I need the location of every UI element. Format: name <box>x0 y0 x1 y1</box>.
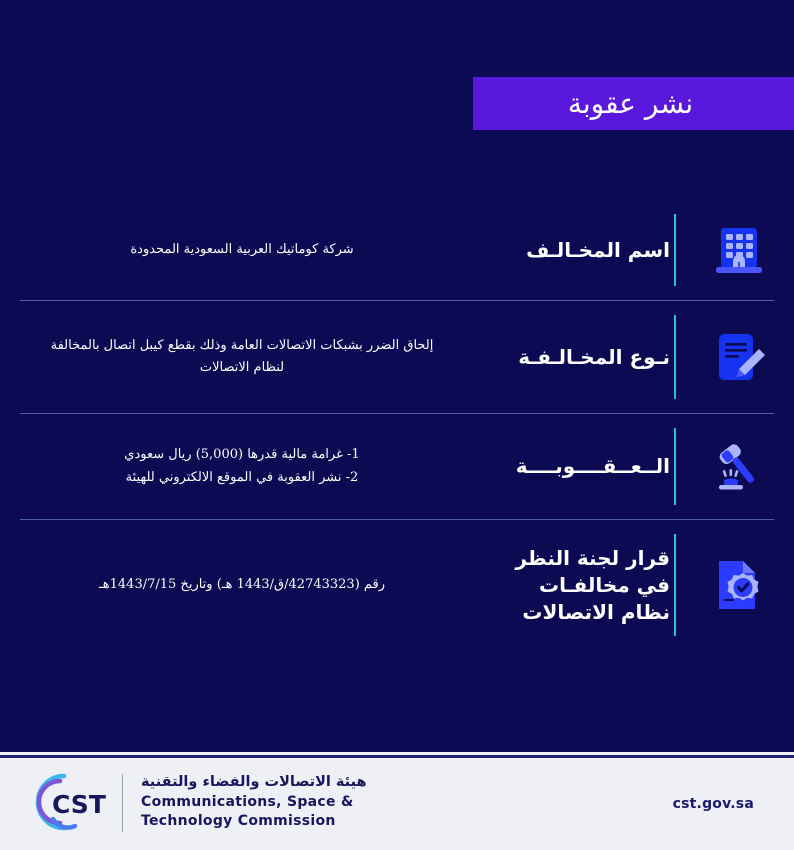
footer-url-wrap[interactable]: cst.gov.sa <box>673 793 794 812</box>
footer-url[interactable]: cst.gov.sa <box>673 796 754 812</box>
footer-org-en-line1: Communications, Space & <box>141 793 367 813</box>
footer-org-names: هيئة الاتصالات والفضاء والتقنية Communic… <box>141 773 367 832</box>
building-icon <box>709 220 769 280</box>
header-banner: نشر عقوبة <box>473 77 794 130</box>
row-icon-slot <box>684 555 794 615</box>
row-divider <box>674 534 676 636</box>
row-value: رقم (42743323/ق/1443 هـ) وتاريخ 1443/7/1… <box>0 574 484 596</box>
row-value: 1- غرامة مالية قدرها (5,000) ريال سعودي … <box>0 444 484 488</box>
document-pen-icon <box>709 327 769 387</box>
row-label: قرار لجنة النظر في مخالفـات نظام الاتصال… <box>484 545 674 626</box>
sanction-publication-card: نشر عقوبة <box>0 0 794 850</box>
footer-top-rule <box>0 755 794 758</box>
row-label: نـوع المخـالـفـة <box>484 344 674 371</box>
table-row: قرار لجنة النظر في مخالفـات نظام الاتصال… <box>0 520 794 650</box>
row-value: إلحاق الضرر بشبكات الاتصالات العامة وذلك… <box>0 335 484 379</box>
row-divider <box>674 428 676 505</box>
page-title: نشر عقوبة <box>568 87 699 120</box>
footer-org-arabic: هيئة الاتصالات والفضاء والتقنية <box>141 773 367 793</box>
row-divider <box>674 214 676 286</box>
footer-brand: CST هيئة الاتصالات والفضاء والتقنية Comm… <box>0 770 367 836</box>
table-row: اسم المخـالـف شركة كوماتيك العربية السعو… <box>0 200 794 300</box>
row-value-text: شركة كوماتيك العربية السعودية المحدودة <box>130 239 353 261</box>
row-value-text: 1- غرامة مالية قدرها (5,000) ريال سعودي … <box>124 444 359 488</box>
document-check-gear-icon <box>709 555 769 615</box>
row-icon-slot <box>684 220 794 280</box>
row-label-text: اسم المخـالـف <box>526 237 670 264</box>
row-value: شركة كوماتيك العربية السعودية المحدودة <box>0 239 484 261</box>
row-icon-slot <box>684 437 794 497</box>
row-divider <box>674 315 676 399</box>
row-label-text: نـوع المخـالـفـة <box>518 344 670 371</box>
table-row: نـوع المخـالـفـة إلحاق الضرر بشبكات الات… <box>0 301 794 413</box>
row-label-text: قرار لجنة النظر في مخالفـات نظام الاتصال… <box>515 545 670 626</box>
row-label: الــعــقــــوبــــة <box>484 453 674 480</box>
row-icon-slot <box>684 327 794 387</box>
details-list: اسم المخـالـف شركة كوماتيك العربية السعو… <box>0 200 794 650</box>
svg-text:CST: CST <box>52 790 106 819</box>
row-value-text: إلحاق الضرر بشبكات الاتصالات العامة وذلك… <box>51 335 434 379</box>
cst-logo-icon: CST <box>30 770 104 836</box>
row-label-text: الــعــقــــوبــــة <box>516 453 670 480</box>
row-value-text: رقم (42743323/ق/1443 هـ) وتاريخ 1443/7/1… <box>99 574 385 596</box>
gavel-icon <box>709 437 769 497</box>
footer-divider <box>122 774 123 832</box>
footer: CST هيئة الاتصالات والفضاء والتقنية Comm… <box>0 752 794 850</box>
table-row: الــعــقــــوبــــة 1- غرامة مالية قدرها… <box>0 414 794 519</box>
row-label: اسم المخـالـف <box>484 237 674 264</box>
footer-org-en-line2: Technology Commission <box>141 812 367 832</box>
